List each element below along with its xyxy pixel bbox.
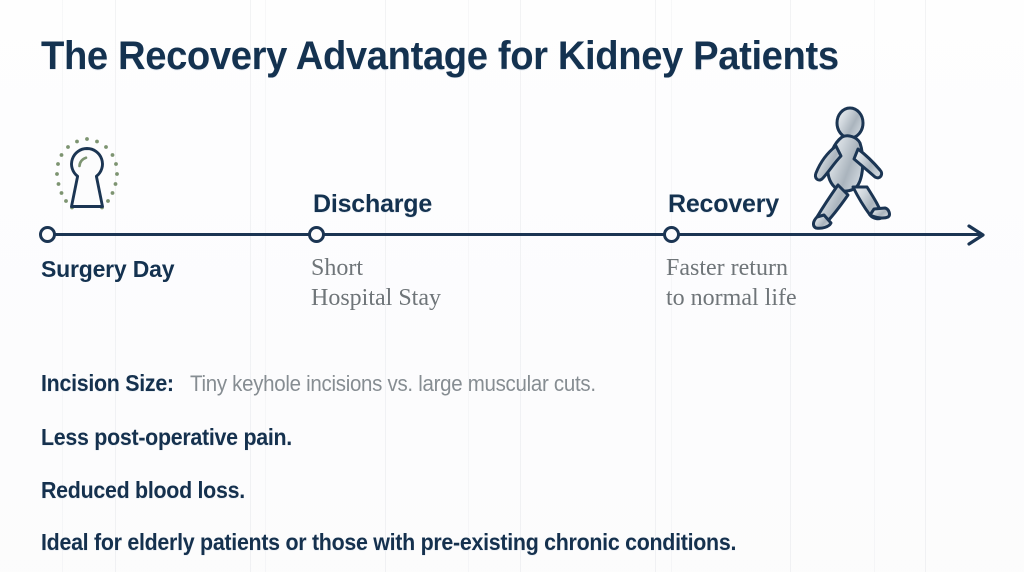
arrow-right-icon <box>966 223 988 247</box>
benefit-label: Reduced blood loss. <box>41 479 245 502</box>
benefit-item: Incision Size: Tiny keyhole incisions vs… <box>41 372 627 395</box>
walking-person-icon <box>798 105 908 233</box>
keyhole-icon <box>50 133 124 221</box>
benefit-item: Ideal for elderly patients or those with… <box>41 531 795 554</box>
timeline-node-surgery-day[interactable] <box>39 226 56 243</box>
timeline-node-recovery[interactable] <box>663 226 680 243</box>
timeline-title-discharge: Discharge <box>313 190 432 219</box>
recovery-timeline: Surgery Day Discharge Short Hospital Sta… <box>0 0 1024 340</box>
timeline-desc-discharge: Short Hospital Stay <box>311 253 441 313</box>
timeline-label-surgery-day: Surgery Day <box>41 254 174 284</box>
benefit-item: Less post-operative pain. <box>41 426 317 449</box>
timeline-axis <box>47 233 982 236</box>
timeline-node-discharge[interactable] <box>308 226 325 243</box>
benefit-item: Reduced blood loss. <box>41 479 267 502</box>
timeline-desc-recovery: Faster return to normal life <box>666 253 797 313</box>
benefit-label: Incision Size: <box>41 372 174 395</box>
slide-canvas: The Recovery Advantage for Kidney Patien… <box>0 0 1024 572</box>
benefit-label: Ideal for elderly patients or those with… <box>41 531 736 554</box>
benefit-text: Tiny keyhole incisions vs. large muscula… <box>190 373 596 395</box>
timeline-title-recovery: Recovery <box>668 190 779 219</box>
benefit-label: Less post-operative pain. <box>41 426 292 449</box>
